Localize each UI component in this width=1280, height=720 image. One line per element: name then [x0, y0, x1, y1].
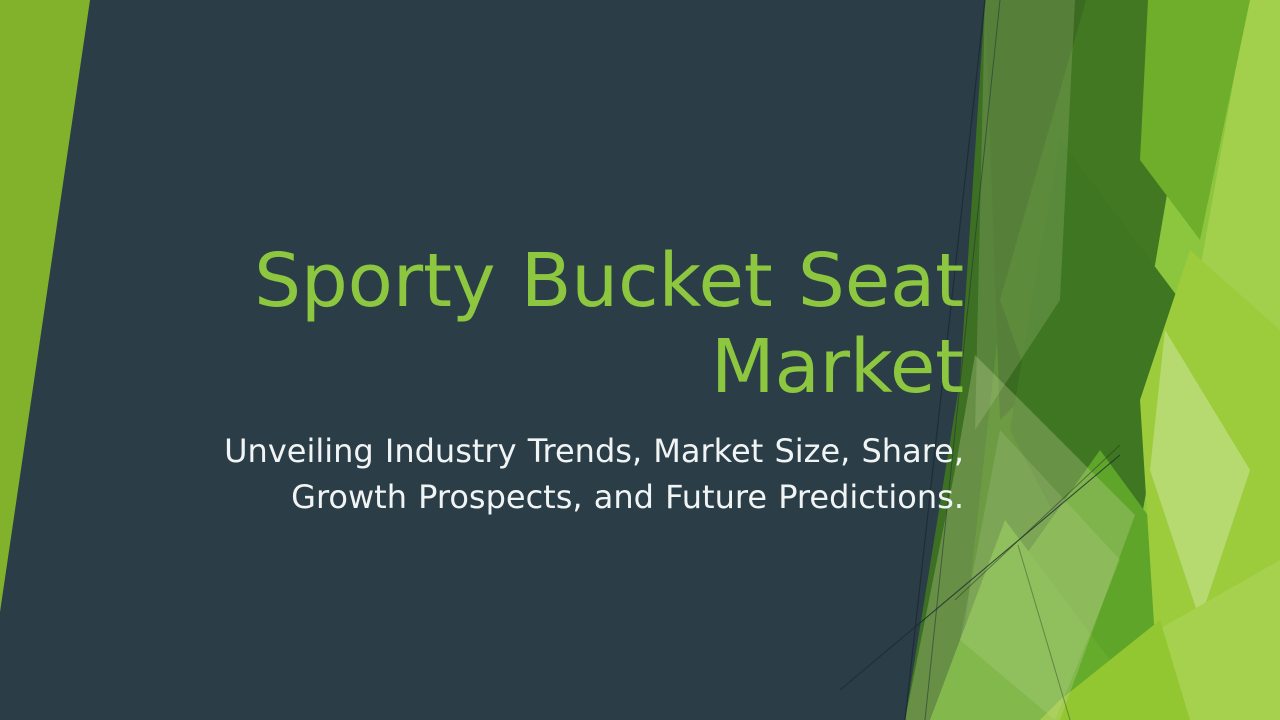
facet-chevron-dark — [1000, 0, 1200, 470]
slide-title: Sporty Bucket Seat Market — [120, 238, 964, 410]
slide-subtitle: Unveiling Industry Trends, Market Size, … — [120, 428, 964, 520]
left-green-wedge — [0, 0, 90, 612]
facet-pale-green-strip — [1120, 0, 1280, 720]
facet-olive-veil-upper — [975, 0, 1075, 430]
facet-light-green-column — [1040, 0, 1280, 720]
facet-upper-dark-triangle — [985, 0, 1148, 420]
facet-spike-bright — [1140, 0, 1250, 240]
presentation-slide: Sporty Bucket Seat Market Unveiling Indu… — [0, 0, 1280, 720]
facet-hairline-diagonal-2 — [955, 445, 1120, 600]
facet-pale-sliver — [1150, 330, 1250, 620]
facet-center-diamond — [1010, 140, 1180, 640]
facet-lower-bright-wedge — [930, 520, 1140, 720]
title-text-block: Sporty Bucket Seat Market Unveiling Indu… — [120, 238, 964, 520]
facet-hairline-short — [1018, 545, 1070, 720]
facet-bottom-center — [1040, 620, 1190, 720]
facet-lime-highlight — [1140, 250, 1280, 640]
facet-lower-leaf-polygon — [930, 450, 1210, 720]
facet-bottom-lime-block — [1080, 560, 1280, 720]
facet-mid-green-band — [955, 0, 1280, 720]
facet-olive-veil-mid — [960, 430, 1120, 720]
